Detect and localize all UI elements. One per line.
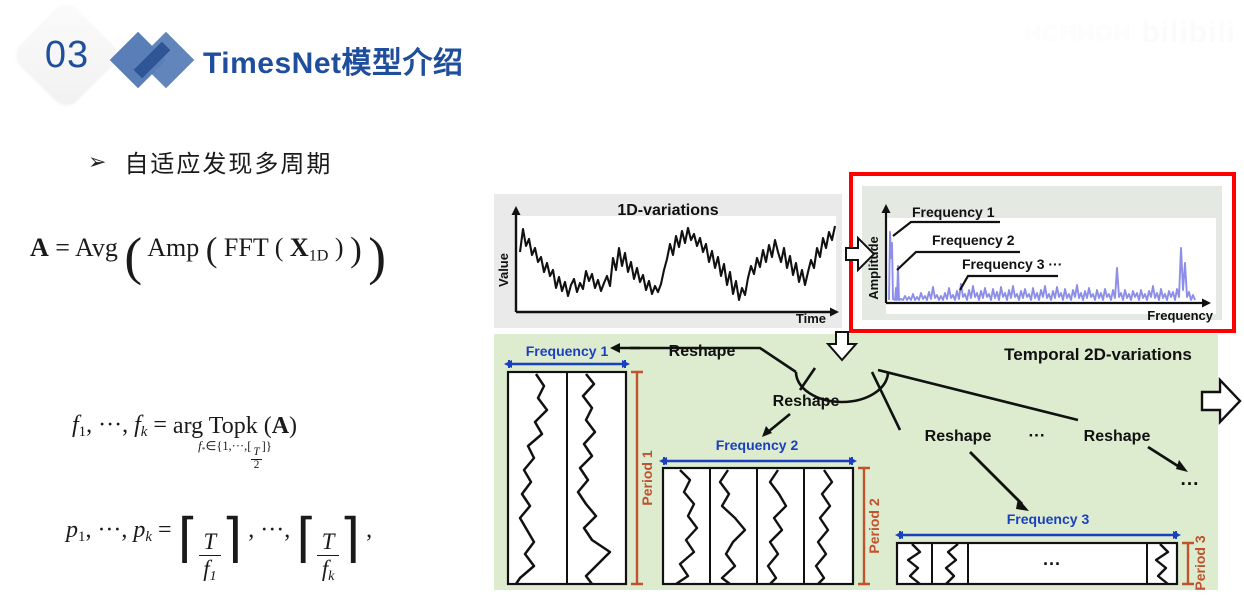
- freq1-block: [508, 372, 626, 584]
- reshape-label-4: Reshape: [1084, 428, 1151, 445]
- cond-fraction: T2: [251, 447, 261, 470]
- argtopk-condition: f*∈{1,···,[T2]}: [198, 440, 272, 471]
- freq1-series-2: [578, 374, 610, 584]
- sym-eq-2: =: [153, 412, 167, 438]
- sym-arg: arg: [173, 413, 203, 439]
- sym-X-sub: 1D: [309, 247, 329, 264]
- fan-branch-1: [800, 368, 815, 390]
- panel-1d-plot-area: [516, 216, 836, 312]
- sym-A: A: [30, 233, 49, 262]
- rceil-2: ⌉: [339, 508, 360, 569]
- sym-A-2: A: [272, 413, 289, 439]
- watermark: HCHHOH bilibili: [1000, 6, 1236, 60]
- rceil-1: ⌉: [222, 508, 243, 569]
- period2-label: Period 2: [866, 498, 882, 553]
- frac2-fk: fk: [317, 556, 340, 584]
- cond-T: T: [251, 447, 261, 459]
- freq3-label: Frequency 3: [1007, 511, 1090, 527]
- freq2-series-1: [676, 470, 697, 584]
- bullet-row: ➢ 自适应发现多周期: [88, 144, 332, 179]
- sym-pk-sub: k: [145, 529, 152, 545]
- sym-eq-3: =: [158, 517, 172, 543]
- freq3-block: [897, 543, 1177, 584]
- arrow-2d-output-icon: [1202, 380, 1240, 422]
- panel-1d-series: [520, 226, 835, 300]
- paren-open-fft: (: [275, 233, 284, 262]
- formula-amplitude: A = Avg ( Amp ( FFT ( X1D ) ) ): [30, 226, 386, 287]
- cond-2: 2: [252, 460, 262, 471]
- fan-top-connector: [630, 348, 796, 372]
- sym-comma-5: ,: [248, 517, 254, 543]
- reshape-arrow-3: [970, 452, 1022, 504]
- fan-connector-arc: [796, 372, 888, 402]
- panel-1d-title: 1D-variations: [617, 202, 718, 219]
- panel-2d-title: Temporal 2D-variations: [1004, 345, 1192, 364]
- period3-label: Period 3: [1192, 535, 1208, 590]
- paren-close-inner: ): [350, 230, 362, 270]
- panel-frequency-x-axis-label: Frequency: [1147, 308, 1214, 323]
- sym-avg: Avg: [75, 233, 118, 262]
- freq3-inner-ellipsis: ···: [1043, 554, 1061, 574]
- frequency-panel-highlight-box: [851, 174, 1234, 331]
- freq2-series-4: [816, 470, 832, 584]
- freq3-series-2: [946, 544, 958, 584]
- sym-comma-4: ,: [121, 517, 127, 543]
- frac2-T: T: [317, 530, 340, 556]
- sym-amp: Amp: [147, 233, 199, 262]
- fan-branch-2: [872, 372, 900, 430]
- paren-open-A: (: [264, 413, 272, 439]
- panel-1d-x-axis-label: Time: [796, 311, 826, 326]
- argtopk-operator: arg Topk (A) f*∈{1,···,[T2]}: [173, 414, 297, 471]
- sym-p1: p: [66, 517, 78, 543]
- freq3-series-1: [908, 544, 920, 584]
- fan-branch-3: [878, 370, 1078, 420]
- freq2-block: [663, 468, 853, 584]
- cond-bracket: ,[: [244, 439, 251, 453]
- freq2-label: Frequency 2: [716, 437, 799, 453]
- fraction-T-f1: Tf1: [198, 530, 221, 584]
- reshape-label-2: Reshape: [773, 393, 840, 410]
- section-number: 03: [28, 16, 106, 94]
- period2-bracket: [858, 468, 870, 584]
- leader-frequency-1: [893, 222, 1000, 236]
- frac1-T: T: [199, 530, 222, 556]
- reshape-label-1: Reshape: [669, 343, 736, 360]
- reshape-arrow-2: [768, 414, 790, 432]
- arrow-frequency-to-2d-icon: [828, 332, 856, 360]
- sym-dots-3: ···: [260, 517, 284, 543]
- annotation-frequency-2: Frequency 2: [932, 232, 1015, 248]
- sym-comma-7: ,: [366, 517, 372, 543]
- sym-eq: =: [55, 233, 70, 262]
- sym-fk: f: [134, 412, 141, 438]
- arrow-bullet-icon: ➢: [88, 151, 106, 173]
- arrow-1d-to-frequency-icon: [846, 238, 874, 270]
- bilibili-logo-icon: bilibili: [1141, 16, 1236, 50]
- cond-dots: ···: [232, 439, 244, 453]
- freq3-series-3: [1156, 544, 1168, 584]
- panel-1d-y-axis-label: Value: [496, 253, 511, 287]
- period3-bracket: [1182, 543, 1194, 584]
- leader-frequency-3: [960, 276, 1058, 290]
- sym-comma-2: ,: [122, 412, 128, 438]
- page-title: TimesNet模型介绍: [203, 38, 464, 82]
- period1-label: Period 1: [639, 450, 655, 505]
- cond-in: ∈{1,: [205, 439, 231, 453]
- lceil-2: ⌈: [296, 508, 317, 569]
- cond-close: ]}: [262, 439, 272, 453]
- panel-frequency-y-axis-label: Amplitude: [866, 236, 881, 300]
- sym-comma-1: ,: [86, 412, 92, 438]
- fraction-T-fk: Tfk: [317, 530, 340, 584]
- freq1-series-1: [516, 374, 547, 584]
- formula-periods: p1, ···, pk = ⌈Tf1⌉ , ···, ⌈Tfk⌉ ,: [66, 508, 372, 584]
- reshape-label-3: Reshape: [925, 428, 992, 445]
- reshape-ellipsis: ···: [1029, 426, 1046, 445]
- panel-frequency-background: [862, 186, 1222, 320]
- sym-pk: p: [133, 517, 145, 543]
- panel-frequency-plot-area: [886, 218, 1216, 314]
- period1-bracket: [631, 372, 643, 584]
- watermark-text: HCHHOH: [1024, 20, 1131, 47]
- paren-close-A: ): [289, 413, 297, 439]
- panel-1d-background: [494, 194, 842, 328]
- leader-frequency-2: [897, 252, 1020, 270]
- sym-fk-sub: k: [141, 424, 148, 440]
- bullet-label: 自适应发现多周期: [124, 144, 332, 179]
- freq2-series-3: [768, 470, 786, 584]
- sym-dots-2: ···: [97, 517, 121, 543]
- slide-header: 03 TimesNet模型介绍: [0, 0, 640, 110]
- sym-f1: f: [72, 412, 79, 438]
- frac1-f1: f1: [198, 556, 221, 584]
- argtopk-top: arg Topk (A): [173, 414, 297, 439]
- sym-comma-3: ,: [85, 517, 91, 543]
- annotation-frequency-3: Frequency 3 ···: [962, 256, 1062, 272]
- freq1-label: Frequency 1: [526, 343, 609, 359]
- freq2-series-2: [720, 470, 745, 584]
- paren-open-inner: (: [206, 230, 218, 270]
- annotation-frequency-1: Frequency 1: [912, 204, 995, 220]
- formula-topk: f1, ···, fk = arg Topk (A) f*∈{1,···,[T2…: [72, 412, 297, 471]
- sym-fft: FFT: [224, 233, 268, 262]
- trailing-ellipsis: ···: [1181, 474, 1200, 495]
- panel-frequency-spectrum: [889, 232, 1195, 300]
- paren-close-fft: ): [335, 233, 344, 262]
- panel-2d-background: [494, 334, 1218, 590]
- paren-open-outer: (: [124, 226, 142, 287]
- sym-dots-1: ···: [98, 412, 122, 438]
- lceil-1: ⌈: [178, 508, 199, 569]
- sym-topk: Topk: [209, 413, 258, 439]
- reshape-arrow-4: [1148, 447, 1181, 468]
- sym-X: X: [290, 233, 309, 262]
- paren-close-outer: ): [368, 226, 386, 287]
- sym-comma-6: ,: [284, 517, 290, 543]
- sym-f1-sub: 1: [79, 424, 86, 440]
